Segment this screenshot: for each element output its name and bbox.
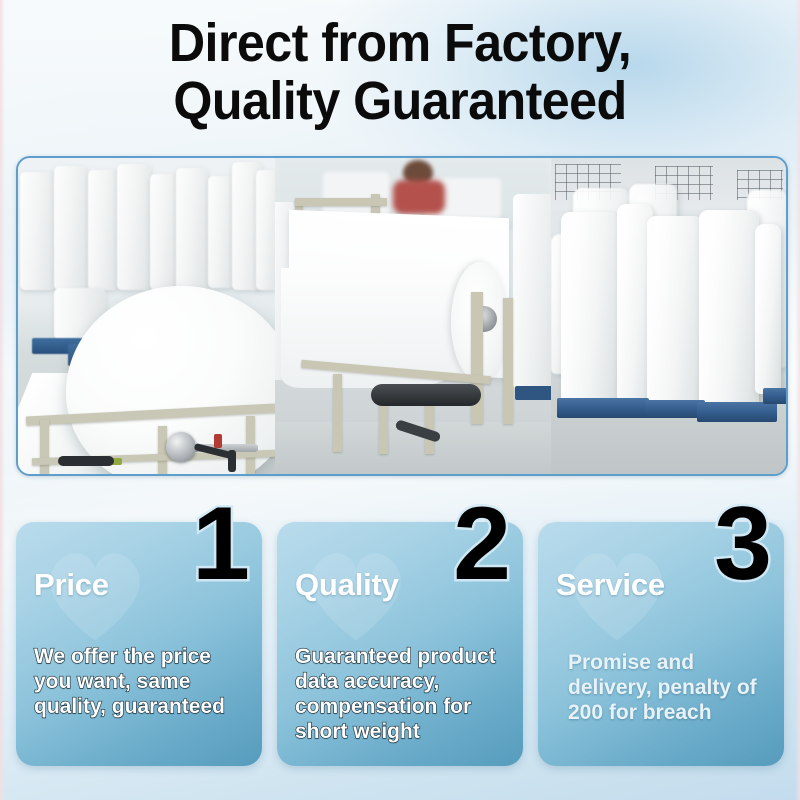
photo-warehouse-rolls — [551, 158, 786, 474]
feature-cards: Price We offer the price you want, same … — [16, 522, 784, 766]
feature-card-service[interactable]: Service Promise and delivery, penalty of… — [538, 522, 784, 766]
feature-card-price[interactable]: Price We offer the price you want, same … — [16, 522, 262, 766]
card-number-badge: 1 — [192, 492, 248, 596]
photo-paper-web-roller — [275, 158, 551, 474]
card-title: Quality — [295, 568, 399, 602]
card-body-text: Guaranteed product data accuracy, compen… — [295, 644, 509, 744]
card-title: Service — [556, 568, 665, 602]
poster-root: Direct from Factory, Quality Guaranteed — [0, 0, 800, 800]
card-title: Price — [34, 568, 109, 602]
headline: Direct from Factory, Quality Guaranteed — [0, 14, 800, 130]
card-body-text: We offer the price you want, same qualit… — [34, 644, 248, 719]
card-number-badge: 3 — [714, 492, 770, 596]
feature-card-quality[interactable]: Quality Guaranteed product data accuracy… — [277, 522, 523, 766]
headline-line-1: Direct from Factory, — [28, 14, 772, 72]
photo-band — [16, 156, 788, 476]
card-body-text: Promise and delivery, penalty of 200 for… — [568, 650, 770, 725]
photo-factory-rewinder — [18, 158, 275, 474]
card-number-badge: 2 — [453, 492, 509, 596]
headline-line-2: Quality Guaranteed — [28, 72, 772, 130]
